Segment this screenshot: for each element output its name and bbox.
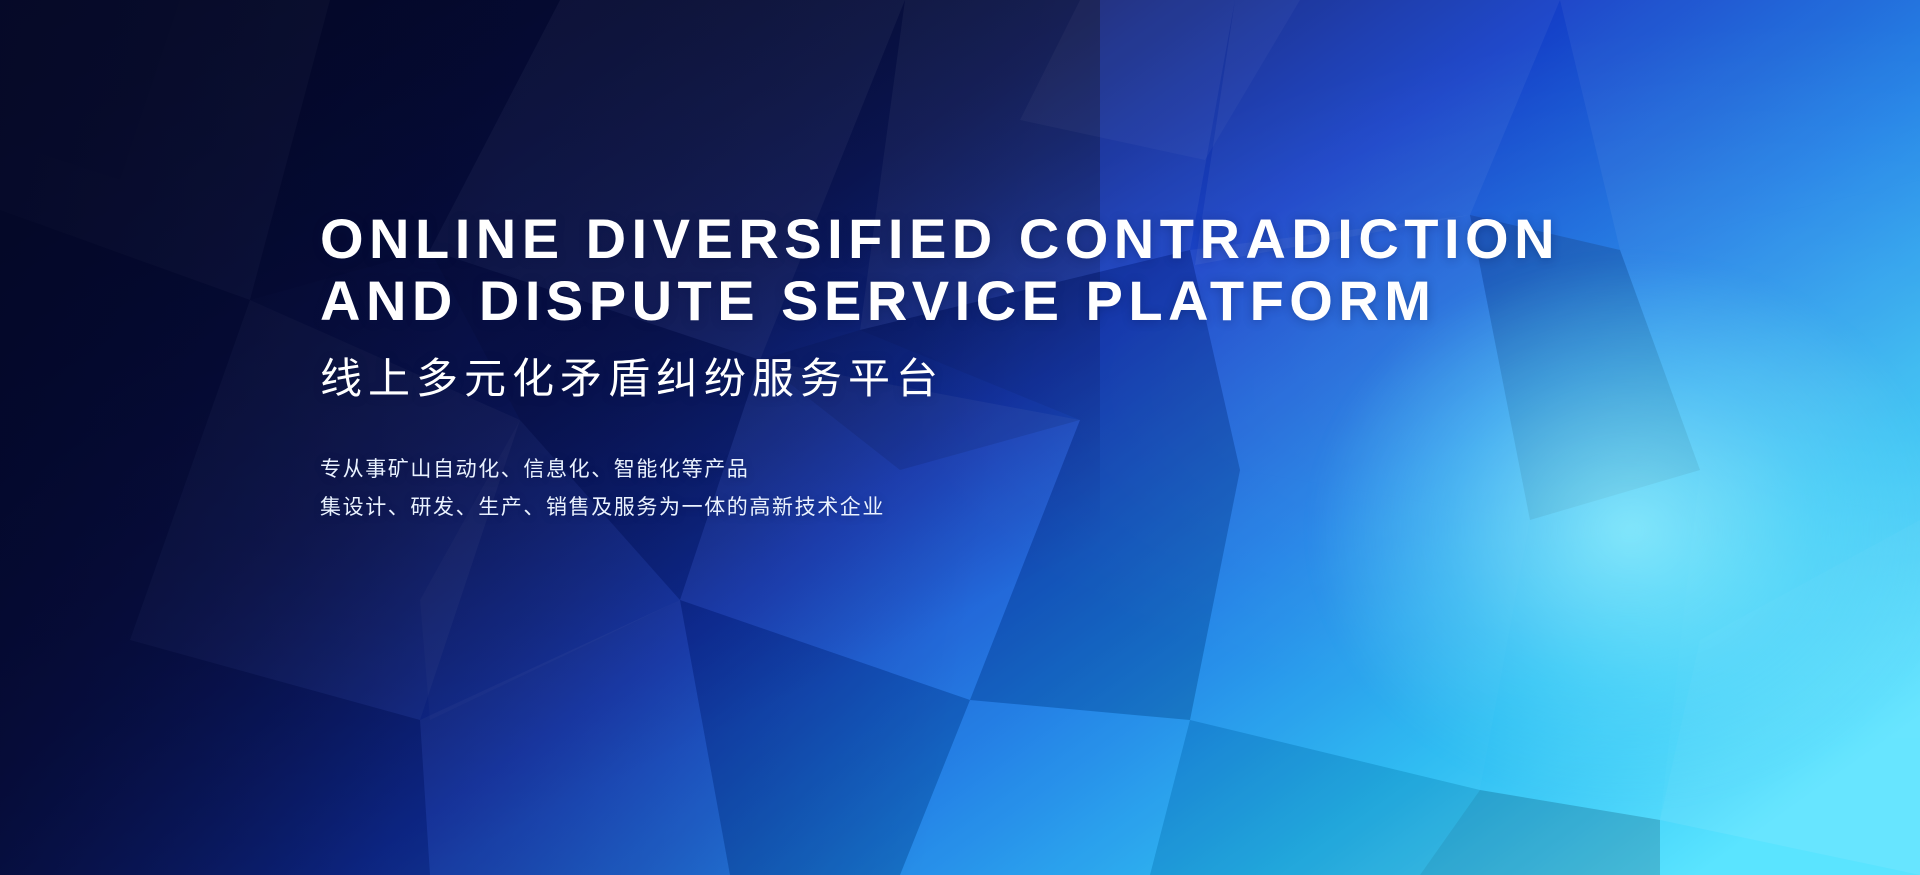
description-block: 专从事矿山自动化、信息化、智能化等产品 集设计、研发、生产、销售及服务为一体的高…: [320, 451, 1560, 527]
description-line-1: 专从事矿山自动化、信息化、智能化等产品: [320, 451, 1560, 489]
banner-content: ONLINE DIVERSIFIED CONTRADICTION AND DIS…: [320, 208, 1560, 527]
hero-banner: ONLINE DIVERSIFIED CONTRADICTION AND DIS…: [0, 0, 1920, 875]
description-line-2: 集设计、研发、生产、销售及服务为一体的高新技术企业: [320, 489, 1560, 527]
subtitle-chinese: 线上多元化矛盾纠纷服务平台: [320, 354, 1560, 404]
title-line-1: ONLINE DIVERSIFIED CONTRADICTION: [320, 208, 1560, 270]
title-line-2: AND DISPUTE SERVICE PLATFORM: [320, 270, 1560, 332]
page-title: ONLINE DIVERSIFIED CONTRADICTION AND DIS…: [320, 208, 1560, 332]
